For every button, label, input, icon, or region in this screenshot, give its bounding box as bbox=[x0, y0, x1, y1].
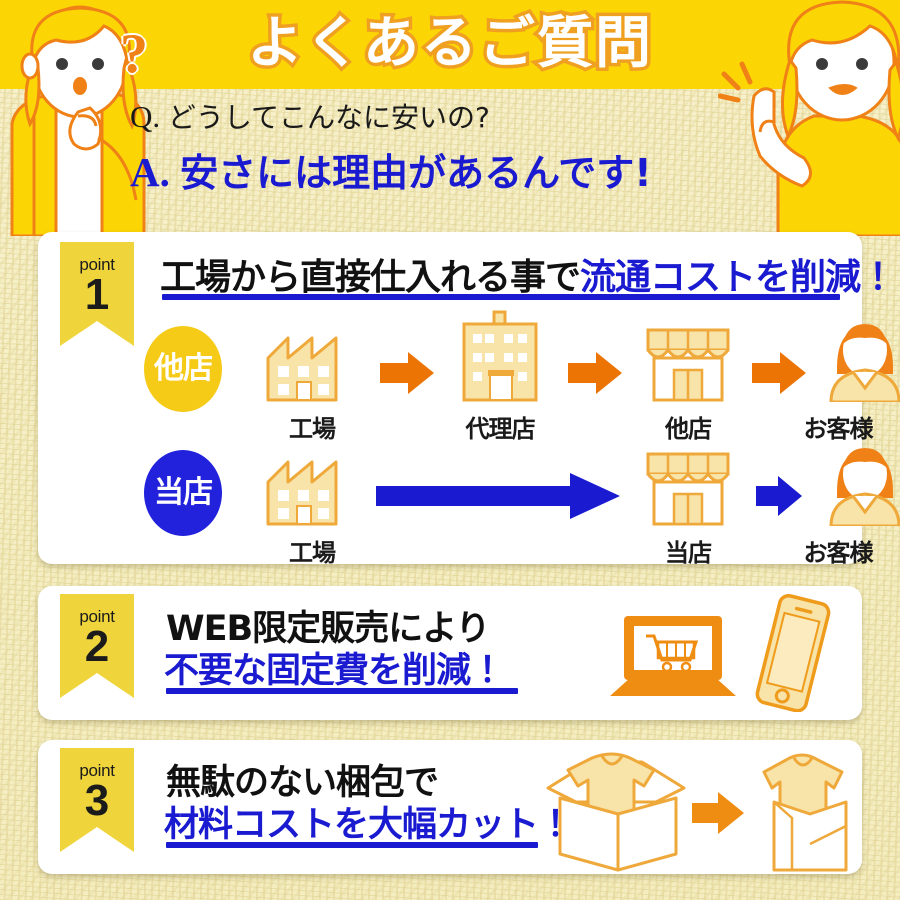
flow-node-caption: お客様 bbox=[738, 409, 900, 444]
shop-icon bbox=[638, 320, 738, 402]
flow-node-agency: 代理店 bbox=[438, 310, 562, 444]
blue-long-arrow-icon bbox=[374, 470, 622, 522]
answer-line: A. 安さには理由があるんです! bbox=[130, 142, 770, 197]
point-1-panel: point 1 工場から直接仕入れる事で流通コストを削減！ 他店 工場 bbox=[38, 232, 862, 564]
flow-node-customer: お客様 bbox=[738, 316, 900, 444]
ribbon-number: 2 bbox=[60, 625, 134, 669]
point-1-headline: 工場から直接仕入れる事で流通コストを削減！ bbox=[160, 248, 895, 300]
question-line: Q. どうしてこんなに安いの? bbox=[130, 96, 770, 136]
flow-node-our-shop: 当店 bbox=[626, 444, 750, 568]
point-1-headline-black: 工場から直接仕入れる事で bbox=[160, 257, 580, 298]
smartphone-icon bbox=[746, 594, 838, 712]
customer-icon bbox=[823, 440, 900, 526]
flow-node-factory-direct: 工場 bbox=[250, 448, 374, 568]
question-text: どうしてこんなに安いの? bbox=[168, 101, 490, 134]
infographic-root: よくあるご質問 ? Q. どうしてこんなに安いの? bbox=[0, 0, 900, 900]
office-building-icon bbox=[452, 310, 548, 402]
flow-node-customer-direct: お客様 bbox=[738, 440, 900, 568]
point-1-headline-blue: 流通コストを削減！ bbox=[580, 257, 895, 298]
orange-arrow-icon bbox=[566, 350, 624, 396]
flow-node-caption: 工場 bbox=[250, 409, 374, 444]
ribbon-number: 3 bbox=[60, 779, 134, 823]
answer-text: 安さには理由があるんです! bbox=[180, 151, 651, 195]
orange-arrow-icon bbox=[378, 350, 436, 396]
point-3-panel: point 3 無駄のない梱包で 材料コストを大幅カット！ bbox=[38, 740, 862, 874]
point-2-ribbon: point 2 bbox=[60, 594, 134, 698]
factory-icon bbox=[262, 324, 362, 402]
ribbon-number: 1 bbox=[60, 273, 134, 317]
box-with-shirt-icon bbox=[526, 744, 716, 872]
answer-prefix: A. bbox=[130, 149, 170, 195]
qa-block: Q. どうしてこんなに安いの? A. 安さには理由があるんです! bbox=[130, 96, 770, 197]
flow-node-factory: 工場 bbox=[250, 324, 374, 444]
point-3-ribbon: point 3 bbox=[60, 748, 134, 852]
flow-node-caption: 当店 bbox=[626, 533, 750, 568]
flow-node-caption: お客様 bbox=[738, 533, 900, 568]
point-1-underline bbox=[162, 294, 840, 300]
shop-icon bbox=[638, 444, 738, 526]
flow-node-caption: 他店 bbox=[626, 409, 750, 444]
orange-arrow-icon bbox=[690, 790, 746, 836]
flow-badge-other-store: 他店 bbox=[144, 326, 222, 412]
flow-node-other-shop: 他店 bbox=[626, 320, 750, 444]
factory-icon bbox=[262, 448, 362, 526]
point-2-panel: point 2 WEB限定販売により 不要な固定費を削減！ bbox=[38, 586, 862, 720]
flow-node-caption: 工場 bbox=[250, 533, 374, 568]
point-3-underline bbox=[166, 842, 538, 848]
flow-badge-our-store: 当店 bbox=[144, 450, 222, 536]
flow-node-caption: 代理店 bbox=[438, 409, 562, 444]
laptop-cart-icon bbox=[608, 612, 738, 704]
question-prefix: Q. bbox=[130, 99, 160, 134]
paper-bag-with-shirt-icon bbox=[750, 740, 878, 874]
point-3-headline-blue: 材料コストを大幅カット！ bbox=[164, 796, 572, 847]
point-2-underline bbox=[166, 688, 518, 694]
point-1-ribbon: point 1 bbox=[60, 242, 134, 346]
point-2-headline-blue: 不要な固定費を削減！ bbox=[164, 642, 504, 693]
customer-icon bbox=[823, 316, 900, 402]
question-mark-icon: ? bbox=[120, 22, 148, 86]
